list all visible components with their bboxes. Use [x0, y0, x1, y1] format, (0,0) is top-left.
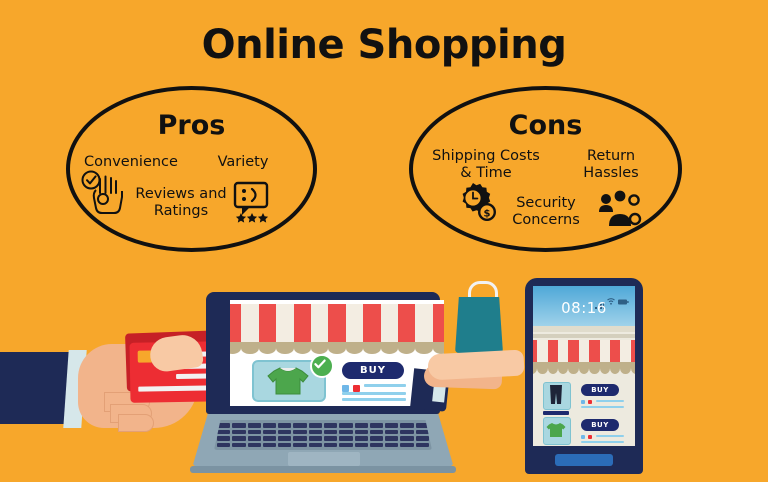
- pros-item-reviews-line2: Ratings: [125, 203, 237, 220]
- phone-swatch-blue-1[interactable]: [581, 400, 585, 404]
- phone-swatch-blue-2[interactable]: [581, 435, 585, 439]
- cons-item-return-line1: Return: [561, 148, 661, 165]
- product-price-bar-1: [543, 411, 569, 415]
- laptop-keyboard[interactable]: [214, 420, 432, 450]
- page-title: Online Shopping: [0, 22, 768, 68]
- green-tshirt-icon: [266, 366, 310, 396]
- laptop-lid: BUY: [206, 292, 440, 414]
- finger-3: [118, 414, 154, 432]
- suit-sleeve-left: [0, 352, 70, 424]
- laptop-foot: [190, 466, 456, 473]
- phone-awning: [533, 340, 635, 366]
- pros-item-convenience: Convenience: [72, 154, 190, 171]
- color-swatch-blue[interactable]: [342, 385, 349, 392]
- cons-item-shipping-line1: Shipping Costs: [421, 148, 551, 165]
- pros-heading: Pros: [70, 110, 313, 141]
- gear-clock-money-icon: $: [457, 182, 503, 226]
- laptop-trackpad[interactable]: [288, 452, 360, 466]
- hand-right-palm: [427, 350, 524, 381]
- ok-hand-check-icon: [80, 170, 130, 214]
- phone-screen: 08:16: [533, 286, 635, 446]
- phone-swatch-red-2[interactable]: [588, 435, 592, 439]
- svg-text:$: $: [484, 208, 491, 219]
- pros-item-variety: Variety: [195, 154, 291, 171]
- phone-clock: 08:16: [533, 299, 635, 317]
- pros-bubble: Pros Convenience Variety Reviews and Rat…: [66, 86, 317, 252]
- phone-status-bar: 08:16: [533, 286, 635, 326]
- smartphone-illustration: 08:16: [525, 278, 643, 474]
- buy-button[interactable]: BUY: [342, 362, 404, 379]
- phone-home-bar[interactable]: [555, 454, 613, 466]
- cons-item-shipping-line2: & Time: [421, 165, 551, 182]
- cons-heading: Cons: [413, 110, 678, 141]
- speech-bubble-stars-icon: [232, 180, 278, 226]
- bag-body: [455, 297, 503, 353]
- cons-bubble: Cons Shipping Costs & Time Return Hassle…: [409, 86, 682, 252]
- cons-item-return-line2: Hassles: [561, 165, 661, 182]
- pros-item-reviews-line1: Reviews and: [125, 186, 237, 203]
- phone-buy-button-2[interactable]: BUY: [581, 419, 619, 431]
- green-tshirt-icon-phone[interactable]: [543, 417, 571, 445]
- infographic-canvas: Online Shopping Pros Convenience Variety…: [0, 0, 768, 482]
- color-swatch-red[interactable]: [353, 385, 360, 392]
- laptop-awning: [230, 304, 444, 346]
- people-group-icon: [595, 188, 643, 230]
- check-badge-icon: [310, 354, 334, 378]
- cons-item-security-line2: Concerns: [499, 212, 593, 229]
- dark-pants-icon[interactable]: [543, 382, 571, 410]
- phone-swatch-red-1[interactable]: [588, 400, 592, 404]
- cons-item-security-line1: Security: [499, 195, 593, 212]
- phone-buy-button-1[interactable]: BUY: [581, 384, 619, 396]
